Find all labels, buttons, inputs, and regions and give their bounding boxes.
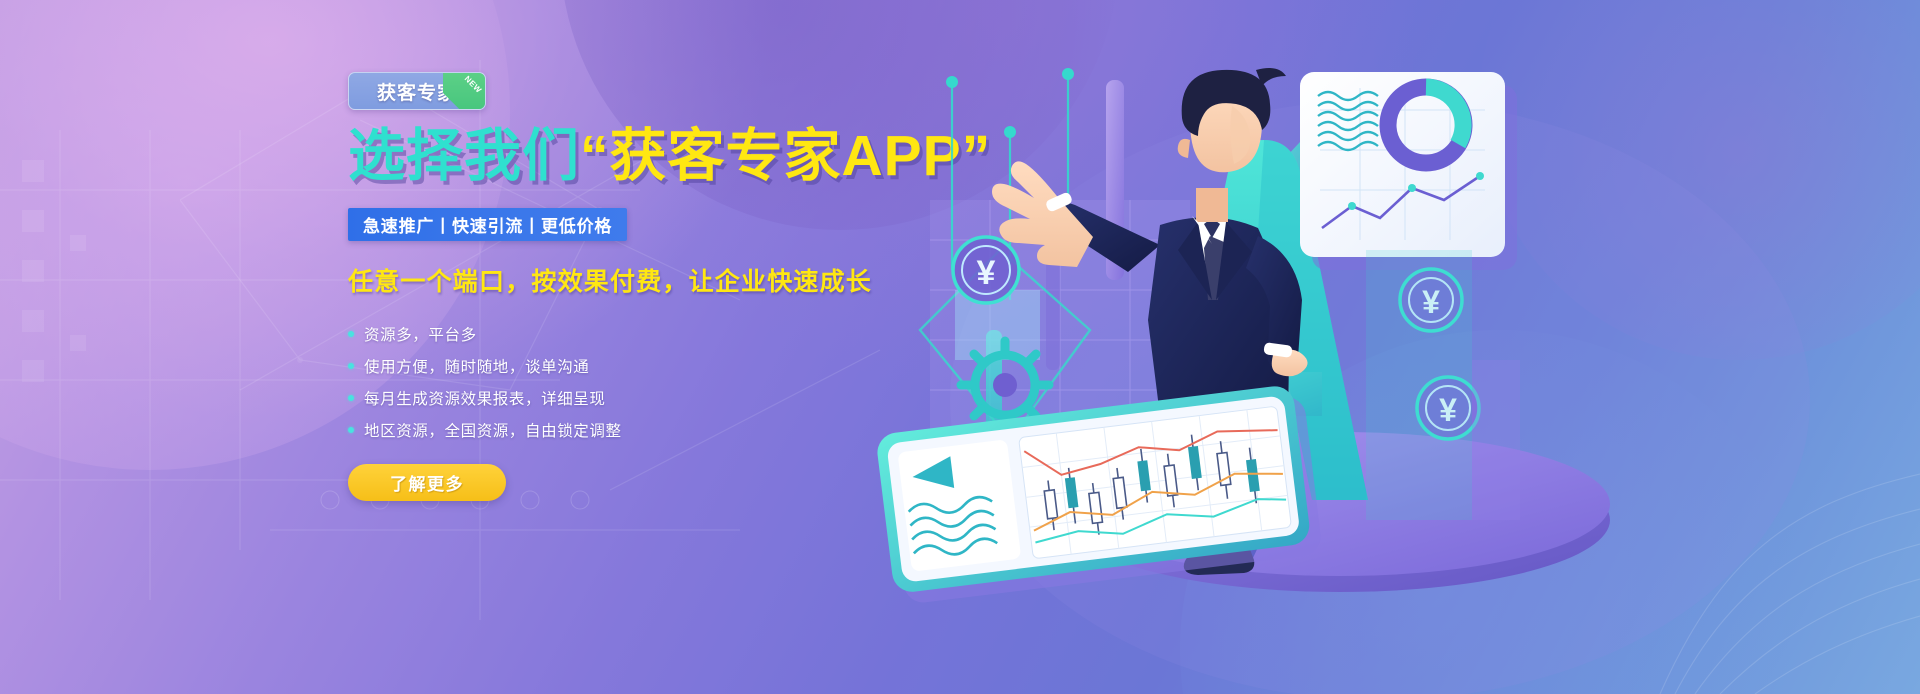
list-item-label: 资源多，平台多 (364, 323, 477, 345)
headline-part-one: 选择我们 (348, 124, 580, 188)
feature-list: 资源多，平台多 使用方便，随时随地，谈单沟通 每月生成资源效果报表，详细呈现 地… (348, 318, 928, 446)
feature-bar: 急速推广丨快速引流丨更低价格 (348, 208, 627, 241)
feature-bar-label: 急速推广丨快速引流丨更低价格 (363, 212, 612, 237)
coin-yen-badge: ¥ (953, 237, 1019, 303)
list-item: 地区资源，全国资源，自由锁定调整 (348, 414, 928, 446)
bullet-dot-icon (348, 395, 354, 401)
donut-chart-screen (1300, 72, 1517, 270)
coin-yen-badge-right-top (1232, 238, 1294, 300)
learn-more-label: 了解更多 (390, 470, 464, 495)
hero-illustration: ¥ ¥ ¥ (860, 0, 1920, 694)
yen-symbol: ¥ (977, 254, 996, 292)
list-item-label: 每月生成资源效果报表，详细呈现 (364, 387, 606, 409)
bullet-dot-icon (348, 331, 354, 337)
tagline: 任意一个端口，按效果付费，让企业快速成长 (348, 262, 928, 298)
product-badge: 获客专家 NEW (348, 72, 486, 110)
list-item: 每月生成资源效果报表，详细呈现 (348, 382, 928, 414)
bullet-dot-icon (348, 427, 354, 433)
banner-content: 获客专家 NEW 选择我们“获客专家APP” 急速推广丨快速引流丨更低价格 任意… (348, 72, 928, 501)
promo-banner: 获客专家 NEW 选择我们“获客专家APP” 急速推广丨快速引流丨更低价格 任意… (0, 0, 1920, 694)
badge-box: 获客专家 NEW (348, 72, 486, 110)
learn-more-button[interactable]: 了解更多 (348, 464, 506, 501)
list-item-label: 地区资源，全国资源，自由锁定调整 (364, 419, 622, 441)
bullet-dot-icon (348, 363, 354, 369)
page-title: 选择我们“获客专家APP” (348, 126, 928, 186)
new-ribbon-icon: NEW (443, 73, 485, 110)
list-item: 使用方便，随时随地，谈单沟通 (348, 350, 928, 382)
list-item-label: 使用方便，随时随地，谈单沟通 (364, 355, 589, 377)
list-item: 资源多，平台多 (348, 318, 928, 350)
